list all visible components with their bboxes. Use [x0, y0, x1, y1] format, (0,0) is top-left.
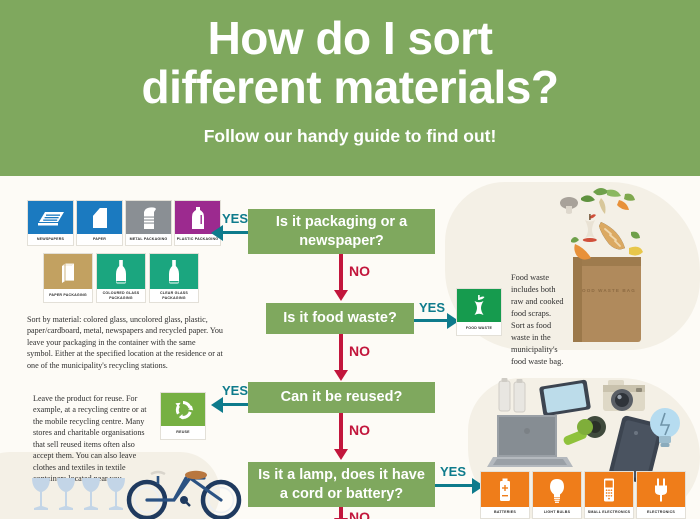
- symbol-tile-label: PAPER PACKAGING: [44, 289, 92, 302]
- page-title-line1: How do I sort: [20, 14, 680, 63]
- flow-node-text: Is it food waste?: [283, 309, 397, 327]
- battery-icon: [481, 472, 529, 507]
- yes-arrow-electrical: [435, 484, 473, 487]
- flow-node-reuse[interactable]: Can it be reused?: [248, 382, 435, 413]
- green-bottle-icon: [97, 254, 145, 289]
- infographic-page: How do I sort different materials? Follo…: [0, 0, 700, 519]
- page-subtitle: Follow our handy guide to find out!: [204, 126, 497, 147]
- symbol-tile-paper[interactable]: PAPER: [76, 200, 123, 246]
- metal-can-icon: [126, 201, 171, 234]
- food-waste-bag-text: FOOD WASTE BAG: [573, 288, 641, 293]
- mobile-phone-icon: [585, 472, 633, 507]
- no-arrow-foodwaste: [339, 334, 343, 371]
- symbol-tile-electronics[interactable]: ELECTRONICS: [636, 471, 686, 519]
- flow-node-foodwaste[interactable]: Is it food waste?: [266, 303, 414, 334]
- flow-node-text: Is it a lamp, does it have a cord or bat…: [256, 466, 427, 502]
- symbol-tile-label: ELECTRONICS: [637, 507, 685, 518]
- symbol-tile-label: METAL PACKAGING: [126, 234, 171, 245]
- recycle-arrows-icon: [161, 393, 205, 426]
- food-waste-bag-side: [573, 257, 582, 342]
- no-label-reuse: NO: [349, 422, 370, 438]
- flow-node-packaging[interactable]: Is it packaging or a newspaper?: [248, 209, 435, 254]
- page-title: How do I sort different materials?: [20, 14, 680, 112]
- symbol-tile-label: FOOD WASTE: [457, 322, 501, 335]
- symbol-tile-small-electronics[interactable]: SMALL ELECTRONICS: [584, 471, 634, 519]
- flow-node-electrical[interactable]: Is it a lamp, does it have a cord or bat…: [248, 462, 435, 507]
- foodwaste-description: Food waste includes both raw and cooked …: [511, 272, 566, 368]
- yes-label-reuse: YES: [222, 383, 248, 398]
- symbol-tile-batteries[interactable]: BATTERIES: [480, 471, 530, 519]
- bicycle-illustration: [118, 462, 250, 519]
- symbol-tile-clear-glass[interactable]: CLEAR GLASS PACKAGING: [149, 253, 199, 303]
- yes-label-foodwaste: YES: [419, 300, 445, 315]
- flow-node-text: Can it be reused?: [281, 388, 403, 406]
- symbol-tile-label: LIGHT BULBS: [533, 507, 581, 518]
- symbol-tile-food-waste[interactable]: FOOD WASTE: [456, 288, 502, 336]
- symbol-tile-label: NEWSPAPERS: [28, 234, 73, 245]
- apple-core-icon: [457, 289, 501, 322]
- flow-node-text: Is it packaging or a newspaper?: [256, 213, 427, 249]
- no-label-foodwaste: NO: [349, 343, 370, 359]
- no-arrow-electrical: [339, 507, 343, 519]
- page-title-line2: different materials?: [20, 63, 680, 112]
- symbol-tile-label: REUSE: [161, 426, 205, 439]
- newspaper-icon: [28, 201, 73, 234]
- symbol-tile-newspapers[interactable]: NEWSPAPERS: [27, 200, 74, 246]
- yes-label-electrical: YES: [440, 464, 466, 479]
- packaging-description: Sort by material: colored glass, uncolor…: [27, 314, 223, 371]
- yes-arrow-foodwaste: [414, 319, 448, 322]
- carton-icon: [44, 254, 92, 289]
- food-waste-bag-illustration: FOOD WASTE BAG: [573, 257, 641, 342]
- symbol-tile-label: CLEAR GLASS PACKAGING: [150, 289, 198, 302]
- no-label-packaging: NO: [349, 263, 370, 279]
- symbol-tile-label: COLOURED GLASS PACKAGING: [97, 289, 145, 302]
- clear-bottle-icon: [150, 254, 198, 289]
- yes-label-packaging: YES: [222, 211, 248, 226]
- symbol-tile-paper-packaging[interactable]: PAPER PACKAGING: [43, 253, 93, 303]
- lightbulb-icon: [533, 472, 581, 507]
- no-label-electrical: NO: [349, 509, 370, 519]
- symbol-tile-label: PAPER: [77, 234, 122, 245]
- symbol-tile-label: BATTERIES: [481, 507, 529, 518]
- no-arrow-reuse: [339, 413, 343, 450]
- symbol-tile-light-bulbs[interactable]: LIGHT BULBS: [532, 471, 582, 519]
- symbol-tile-label: SMALL ELECTRONICS: [585, 507, 633, 518]
- symbol-tile-reuse[interactable]: REUSE: [160, 392, 206, 440]
- symbol-tile-metal-packaging[interactable]: METAL PACKAGING: [125, 200, 172, 246]
- falling-food-illustration: [545, 186, 655, 266]
- header-banner: How do I sort different materials? Follo…: [0, 0, 700, 176]
- no-arrow-packaging: [339, 254, 343, 291]
- paper-sheet-icon: [77, 201, 122, 234]
- power-plug-icon: [637, 472, 685, 507]
- symbol-tile-coloured-glass[interactable]: COLOURED GLASS PACKAGING: [96, 253, 146, 303]
